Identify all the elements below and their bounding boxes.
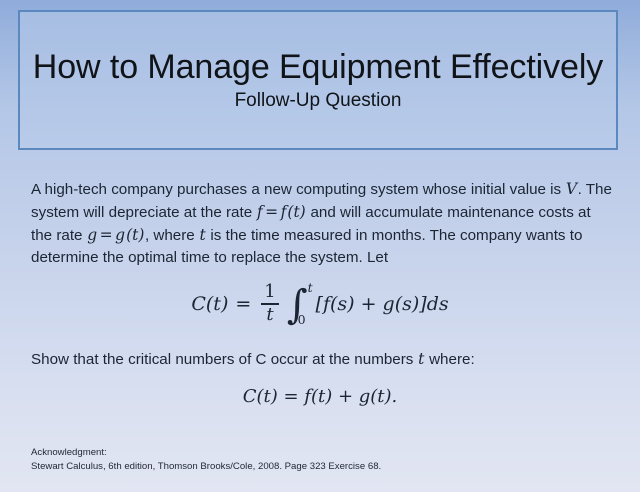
title-box: How to Manage Equipment Effectively Foll… — [18, 10, 618, 150]
integral-upper-limit: t — [308, 280, 316, 295]
slide-canvas: How to Manage Equipment Effectively Foll… — [0, 0, 640, 492]
page-subtitle: Follow-Up Question — [235, 89, 402, 113]
math-func-g: g — [115, 226, 126, 244]
math-equals-2: = — [98, 226, 115, 244]
fraction-denominator: t — [263, 305, 276, 325]
acknowledgment-citation: Stewart Calculus, 6th edition, Thomson B… — [31, 460, 381, 474]
acknowledgment-footer: Acknowledgment: Stewart Calculus, 6th ed… — [31, 446, 381, 473]
integral-lower-limit: 0 — [298, 312, 306, 327]
math-equals-1: = — [263, 203, 280, 221]
integral-group: ∫ t 0 — [282, 283, 309, 325]
display-formula-integral: C(t) = 1 t ∫ t 0 [f(s) + g(s)]ds — [0, 283, 640, 325]
question-segment-1: Show that the critical numbers of C occu… — [31, 351, 418, 368]
math-func-f: f — [280, 203, 287, 221]
acknowledgment-label: Acknowledgment: — [31, 446, 381, 460]
math-var-V: V — [565, 180, 577, 198]
math-func-g-arg: (t) — [126, 226, 145, 244]
formula-equals: = — [228, 293, 258, 315]
display-formula-critical: C(t) = f(t) + g(t). — [0, 386, 640, 407]
problem-paragraph: A high-tech company purchases a new comp… — [31, 178, 616, 269]
integrand: [f(s) + g(s)]ds — [316, 293, 449, 315]
paragraph-segment-1: A high-tech company purchases a new comp… — [31, 181, 565, 198]
math-var-g: g — [87, 226, 98, 244]
math-func-f-arg: (t) — [287, 203, 306, 221]
formula-row: C(t) = 1 t ∫ t 0 [f(s) + g(s)]ds — [191, 283, 448, 325]
question-segment-2: where: — [425, 351, 475, 368]
math-var-t-question: t — [418, 350, 425, 368]
integral-limits: t 0 — [299, 283, 307, 325]
question-paragraph: Show that the critical numbers of C occu… — [31, 348, 616, 371]
page-title: How to Manage Equipment Effectively — [33, 47, 603, 87]
fraction-numerator: 1 — [261, 283, 278, 303]
formula-lhs: C(t) — [191, 293, 228, 315]
paragraph-segment-4: , where — [145, 227, 199, 244]
fraction-one-over-t: 1 t — [258, 283, 281, 324]
